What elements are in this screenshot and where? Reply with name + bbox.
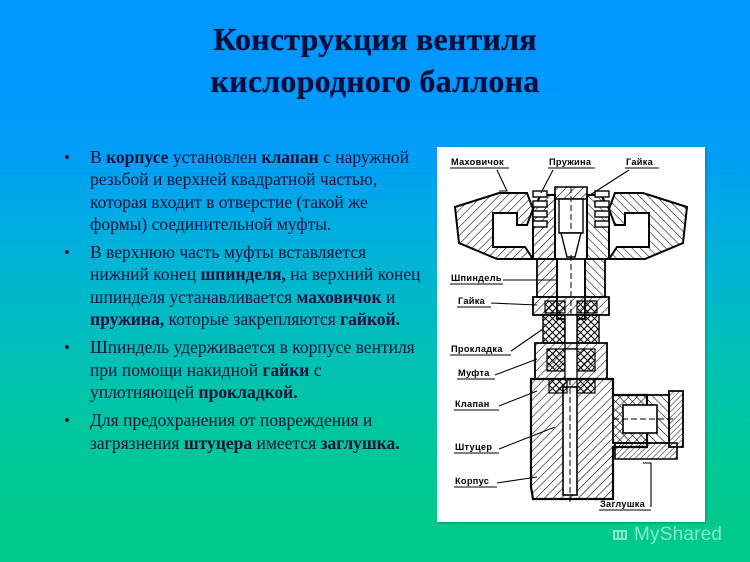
label-pruzhina: Пружина xyxy=(549,157,592,167)
bullet-list: •В корпусе установлен клапан с наружной … xyxy=(56,146,428,460)
watermark: MyShared xyxy=(612,524,722,546)
bullet-text: В корпусе установлен клапан с наружной р… xyxy=(90,147,409,234)
label-klapan: Клапан xyxy=(455,399,490,409)
label-gaika-left: Гайка xyxy=(458,296,486,306)
watermark-text: MyShared xyxy=(634,524,722,546)
title-line-1: Конструкция вентиля xyxy=(0,18,750,60)
bullet-marker: • xyxy=(64,337,70,359)
label-gaika-top: Гайка xyxy=(626,157,654,167)
bullet-item: •В верхнюю часть муфты вставляется нижни… xyxy=(56,241,428,330)
bullet-item: •Шпиндель удерживается в корпусе вентиля… xyxy=(56,336,428,403)
bullet-marker: • xyxy=(64,242,70,264)
bullet-marker: • xyxy=(64,410,70,432)
bullet-marker: • xyxy=(64,147,70,169)
top-nut-group xyxy=(555,187,587,257)
label-korpus: Корпус xyxy=(455,476,489,486)
label-mahovichok: Маховичок xyxy=(451,157,504,167)
label-prokladka: Прокладка xyxy=(451,344,503,354)
label-shtucer: Штуцер xyxy=(455,442,492,452)
label-mufta: Муфта xyxy=(458,368,490,378)
grid-logo-icon xyxy=(612,528,628,542)
nipple-group xyxy=(613,395,673,443)
title-line-2: кислородного баллона xyxy=(0,60,750,102)
page-title: Конструкция вентиля кислородного баллона xyxy=(0,18,750,102)
label-shpindel: Шпиндель xyxy=(451,273,502,283)
label-zaglushka: Заглушка xyxy=(600,499,646,509)
cap-nut-group xyxy=(533,297,609,315)
valve-cross-section-drawing: Маховичок Пружина Гайка Шпиндель Гайка П… xyxy=(437,147,705,522)
coupling-group xyxy=(535,343,607,379)
bullet-text: В верхнюю часть муфты вставляется нижний… xyxy=(90,242,421,329)
bullet-text: Для предохранения от повреждения и загря… xyxy=(90,410,400,452)
bullet-text: Шпиндель удерживается в корпусе вентиля … xyxy=(90,337,415,402)
bullet-item: •Для предохранения от повреждения и загр… xyxy=(56,409,428,454)
valve-diagram-panel: Маховичок Пружина Гайка Шпиндель Гайка П… xyxy=(437,147,705,522)
bullet-item: •В корпусе установлен клапан с наружной … xyxy=(56,146,428,235)
